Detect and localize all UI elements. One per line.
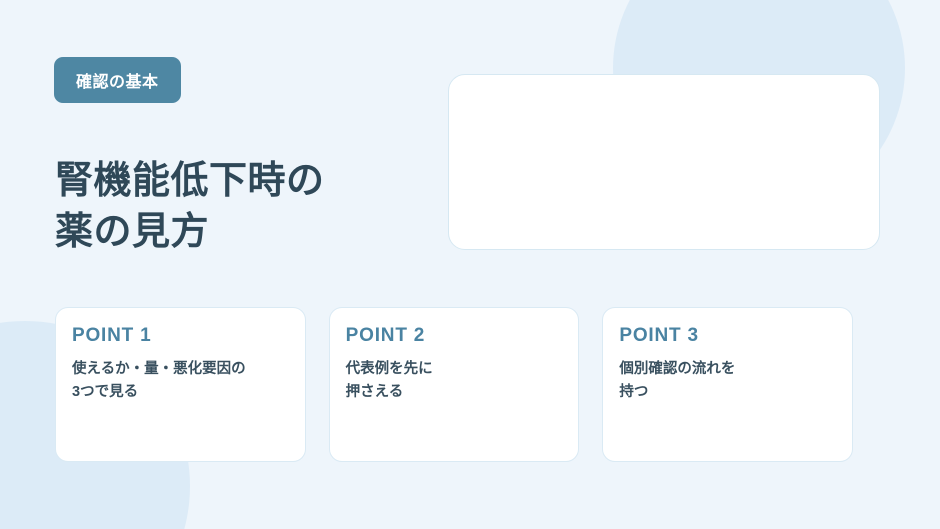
point-card-3-body-line-1: 個別確認の流れを (619, 358, 836, 381)
point-card-1-body-line-1: 使えるか・量・悪化要因の (72, 358, 289, 381)
point-card-2-body: 代表例を先に 押さえる (346, 358, 563, 404)
point-card-3-heading: POINT 3 (619, 325, 836, 347)
point-card-2-heading: POINT 2 (346, 325, 563, 347)
point-card-3-body-line-2: 持つ (619, 381, 836, 404)
point-card-1-body: 使えるか・量・悪化要因の 3つで見る (72, 358, 289, 404)
point-card-1-heading: POINT 1 (72, 325, 289, 347)
page-title-line-1: 腎機能低下時の (55, 156, 415, 206)
point-card-2-body-line-1: 代表例を先に (346, 358, 563, 381)
hero-content-panel (448, 74, 880, 250)
slide-canvas: 確認の基本 腎機能低下時の 薬の見方 POINT 1 使えるか・量・悪化要因の … (0, 0, 940, 529)
point-card-1-body-line-2: 3つで見る (72, 381, 289, 404)
page-title-line-2: 薬の見方 (55, 207, 415, 257)
point-card-2-body-line-2: 押さえる (346, 381, 563, 404)
point-card-2: POINT 2 代表例を先に 押さえる (329, 307, 580, 462)
point-card-3-body: 個別確認の流れを 持つ (619, 358, 836, 404)
point-card-3: POINT 3 個別確認の流れを 持つ (602, 307, 853, 462)
page-title: 腎機能低下時の 薬の見方 (55, 156, 415, 256)
category-badge-label: 確認の基本 (76, 68, 159, 92)
category-badge: 確認の基本 (54, 57, 181, 103)
point-card-1: POINT 1 使えるか・量・悪化要因の 3つで見る (55, 307, 306, 462)
point-cards-row: POINT 1 使えるか・量・悪化要因の 3つで見る POINT 2 代表例を先… (55, 307, 853, 462)
